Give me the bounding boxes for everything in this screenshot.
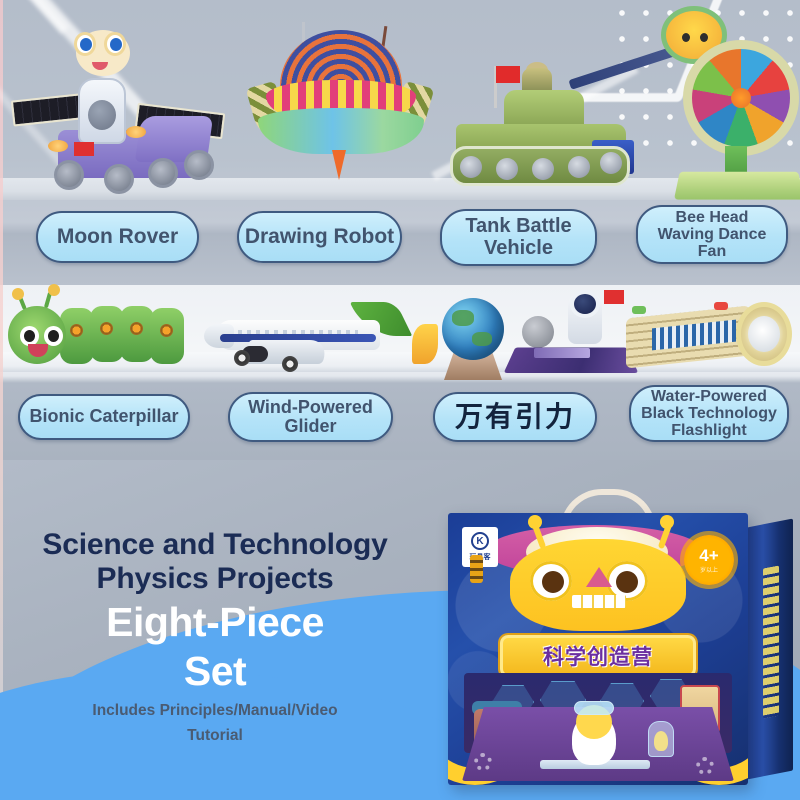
label-line: 万有引力 — [451, 402, 579, 432]
bee-scientist-mascot — [566, 695, 622, 767]
antenna-ball — [48, 284, 60, 296]
label-line: Bee Head — [654, 209, 771, 226]
product-label-tank-battle-vehicle[interactable]: Tank Battle Vehicle — [440, 209, 597, 266]
spot-icon — [160, 324, 173, 337]
headline-block: Science and Technology Physics Projects … — [0, 528, 430, 745]
age-badge-sublabel: 岁以上 — [700, 565, 718, 574]
label-line: Tank Battle — [461, 216, 575, 238]
antenna-ball — [528, 515, 542, 529]
wheel-icon — [568, 156, 590, 178]
satellite-icon — [534, 348, 590, 358]
product-label-bee-head-waving-dance-fan[interactable]: Bee Head Waving Dance Fan — [636, 205, 788, 264]
age-badge: 4+ 岁以上 — [684, 535, 734, 585]
astronaut-visor — [88, 100, 116, 130]
tab-icon — [714, 302, 728, 310]
age-badge-value: 4+ — [699, 547, 718, 564]
eye-icon — [700, 33, 708, 42]
wheel-icon — [282, 356, 298, 372]
wheel-icon — [234, 350, 250, 366]
landmass — [452, 310, 474, 326]
label-line: Fan — [654, 243, 771, 260]
label-line: Black Technology — [637, 405, 781, 422]
label-line: Glider — [244, 417, 377, 436]
label-line: Flashlight — [637, 422, 781, 439]
box-side-text — [763, 565, 779, 718]
fan-base — [674, 172, 800, 200]
logo-mark-icon: K — [471, 532, 489, 550]
wheel-icon — [104, 164, 134, 194]
gear-icon — [474, 753, 492, 771]
product-label-universal-gravitation[interactable]: 万有引力 — [433, 392, 597, 442]
globe-icon — [442, 298, 504, 360]
wheel-icon — [460, 156, 482, 178]
page-title-line2: Physics Projects — [0, 562, 430, 596]
antenna-ball — [660, 515, 674, 529]
pupil-icon — [110, 38, 122, 51]
wheel-icon — [600, 152, 622, 174]
product-label-bionic-caterpillar[interactable]: Bionic Caterpillar — [18, 394, 190, 440]
product-image-bionic-caterpillar — [6, 292, 196, 374]
label-line: Water-Powered — [637, 388, 781, 405]
pupil-icon — [24, 330, 35, 342]
product-image-water-powered-flashlight — [618, 298, 798, 380]
antenna-ball — [12, 288, 24, 300]
product-image-tank-battle-vehicle — [450, 28, 655, 196]
moon-icon — [522, 316, 554, 348]
product-image-moon-rover — [18, 18, 233, 193]
subtitle-line2: Tutorial — [0, 726, 430, 745]
box-title-banner: 科学创造营 — [500, 635, 696, 677]
pupil-icon — [48, 330, 59, 342]
goggles-icon — [574, 701, 614, 715]
propeller-icon — [412, 324, 438, 364]
mouth-icon — [572, 595, 626, 608]
headline-big-line2: Set — [0, 649, 430, 694]
spot-icon — [100, 322, 113, 335]
pupil-icon — [542, 571, 564, 593]
eye-icon — [682, 33, 690, 42]
page-title-line1: Science and Technology — [0, 528, 430, 562]
product-marketing-poster: Moon Rover Drawing Robot Tank Battle Veh… — [0, 0, 800, 800]
label-line: Bionic Caterpillar — [25, 407, 182, 426]
product-label-moon-rover[interactable]: Moon Rover — [36, 211, 199, 263]
nose-icon — [586, 567, 612, 587]
base-disc — [258, 108, 424, 154]
label-line: Vehicle — [461, 238, 575, 260]
label-line: Drawing Robot — [241, 226, 398, 249]
pinwheel-hub — [731, 88, 751, 108]
product-box: 科学创造营 4+ 岁以上 K 玩具客 — [448, 505, 793, 790]
bee-stripes — [470, 555, 483, 583]
wheel-icon — [532, 158, 554, 180]
product-image-universal-gravitation — [418, 290, 633, 382]
product-label-wind-powered-glider[interactable]: Wind-Powered Glider — [228, 392, 393, 442]
box-title-text: 科学创造营 — [543, 641, 653, 671]
pupil-icon — [80, 38, 92, 51]
box-front-panel: 科学创造营 4+ 岁以上 K 玩具客 — [448, 513, 748, 785]
product-image-drawing-robot — [250, 22, 430, 192]
wheel-icon — [148, 158, 178, 188]
label-line: Waving Dance — [654, 226, 771, 243]
pen-tip-icon — [332, 150, 346, 180]
specimen-bug — [654, 731, 668, 751]
spot-icon — [70, 324, 83, 337]
light-icon — [126, 126, 146, 138]
wheel-icon — [54, 160, 84, 190]
flag-icon — [74, 142, 94, 156]
pupil-icon — [616, 571, 638, 593]
subtitle-line1: Includes Principles/Manual/Video — [0, 701, 430, 720]
spot-icon — [130, 322, 143, 335]
flag-icon — [496, 66, 520, 83]
lens-icon — [748, 316, 780, 352]
product-label-drawing-robot[interactable]: Drawing Robot — [237, 211, 402, 263]
wheel-icon — [184, 150, 214, 180]
landmass — [472, 332, 492, 346]
astronaut-helmet — [570, 290, 600, 318]
label-line: Moon Rover — [53, 226, 182, 249]
product-image-bee-head-waving-dance-fan — [655, 10, 800, 200]
gear-icon — [696, 757, 714, 775]
label-line: Wind-Powered — [244, 398, 377, 417]
product-image-wind-powered-glider — [198, 300, 413, 378]
light-icon — [48, 140, 68, 152]
tab-icon — [632, 306, 646, 314]
wheel-icon — [496, 158, 518, 180]
product-label-water-powered-flashlight[interactable]: Water-Powered Black Technology Flashligh… — [629, 385, 789, 442]
headline-big-line1: Eight-Piece — [0, 600, 430, 645]
